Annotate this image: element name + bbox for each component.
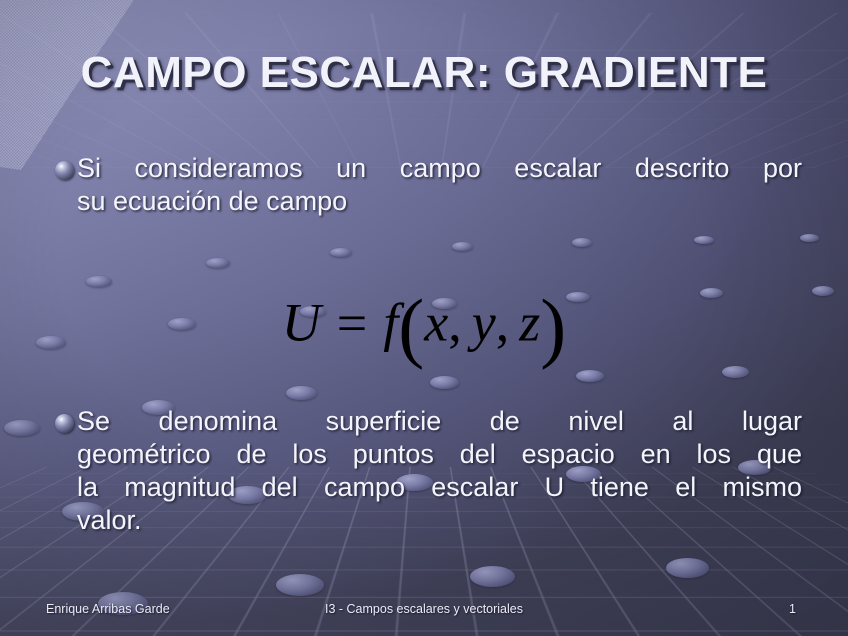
- formula-operator: =: [331, 293, 373, 353]
- bullet-block-one: Si consideramos un campo escalar descrit…: [55, 152, 802, 218]
- bullet-line: valor.: [77, 504, 802, 537]
- bullet-line: la magnitud del campo escalar U tiene el…: [77, 471, 802, 504]
- bullet-text: Se denomina superficie de nivel al lugar…: [77, 405, 802, 537]
- bullet-line: su ecuación de campo: [77, 185, 802, 218]
- bullet-item: Si consideramos un campo escalar descrit…: [55, 152, 802, 218]
- footer-page-number: 1: [789, 602, 796, 616]
- footer-subject: I3 - Campos escalares y vectoriales: [0, 602, 848, 616]
- formula-lhs: U: [282, 293, 321, 353]
- sphere-bullet-icon: [55, 161, 74, 180]
- formula-var-x: x: [424, 293, 448, 353]
- formula-function: f: [383, 293, 398, 353]
- bullet-item: Se denomina superficie de nivel al lugar…: [55, 405, 802, 537]
- formula-close-paren: ): [540, 283, 566, 370]
- bullet-line: Si consideramos un campo escalar descrit…: [77, 152, 802, 185]
- bullet-line: geométrico de los puntos del espacio en …: [77, 438, 802, 471]
- formula-comma: ,: [496, 293, 510, 353]
- bullet-line: Se denomina superficie de nivel al lugar: [77, 405, 802, 438]
- sphere-bullet-icon: [55, 414, 74, 433]
- bullet-block-two: Se denomina superficie de nivel al lugar…: [55, 405, 802, 537]
- formula-equation: U=f(x,y,z): [0, 282, 848, 372]
- slide-footer: Enrique Arribas Garde I3 - Campos escala…: [0, 602, 848, 622]
- bullet-text: Si consideramos un campo escalar descrit…: [77, 152, 802, 218]
- formula-comma: ,: [448, 293, 462, 353]
- presentation-slide: CAMPO ESCALAR: GRADIENTE Si consideramos…: [0, 0, 848, 636]
- slide-title: CAMPO ESCALAR: GRADIENTE: [0, 48, 848, 98]
- formula-var-z: z: [519, 293, 540, 353]
- formula-var-y: y: [472, 293, 496, 353]
- formula-open-paren: (: [398, 283, 424, 370]
